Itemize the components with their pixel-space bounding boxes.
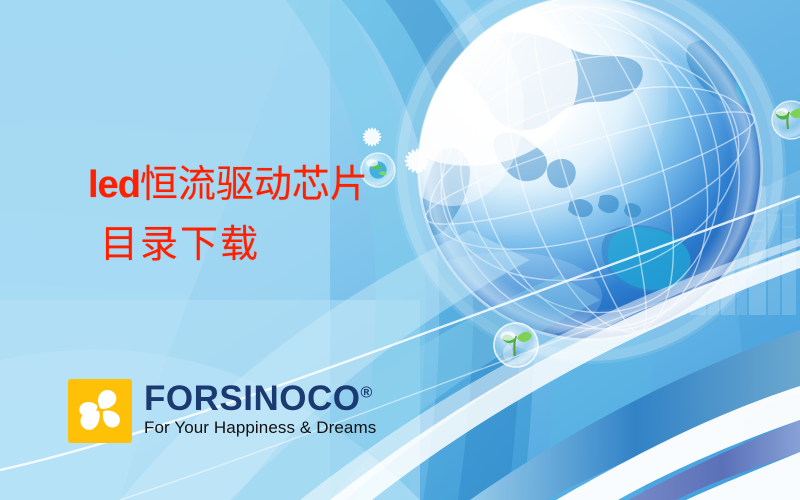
headline-line-2: 目录下载 — [100, 226, 368, 264]
forsinoco-logo-mark — [68, 379, 132, 443]
brand-logo-lockup: FORSINOCO® For Your Happiness & Dreams — [68, 379, 376, 443]
headline-latin-word: led — [88, 164, 140, 206]
headline-block: led恒流驱动芯片 目录下载 — [88, 166, 368, 264]
bubble-sprout-icon — [494, 323, 538, 367]
brand-tagline: For Your Happiness & Dreams — [144, 418, 376, 438]
promo-banner: led恒流驱动芯片 目录下载 FORSINOCO® For Your Happi… — [0, 0, 800, 500]
brand-wordmark: FORSINOCO® For Your Happiness & Dreams — [144, 379, 376, 438]
brand-name: FORSINOCO® — [144, 381, 376, 416]
headline-cjk-phrase: 恒流驱动芯片 — [140, 164, 368, 206]
brand-name-text: FORSINOCO — [144, 379, 360, 418]
headline-line-1: led恒流驱动芯片 — [88, 166, 368, 204]
registered-trademark-icon: ® — [360, 384, 372, 401]
four-petal-pinwheel-icon — [68, 379, 132, 443]
